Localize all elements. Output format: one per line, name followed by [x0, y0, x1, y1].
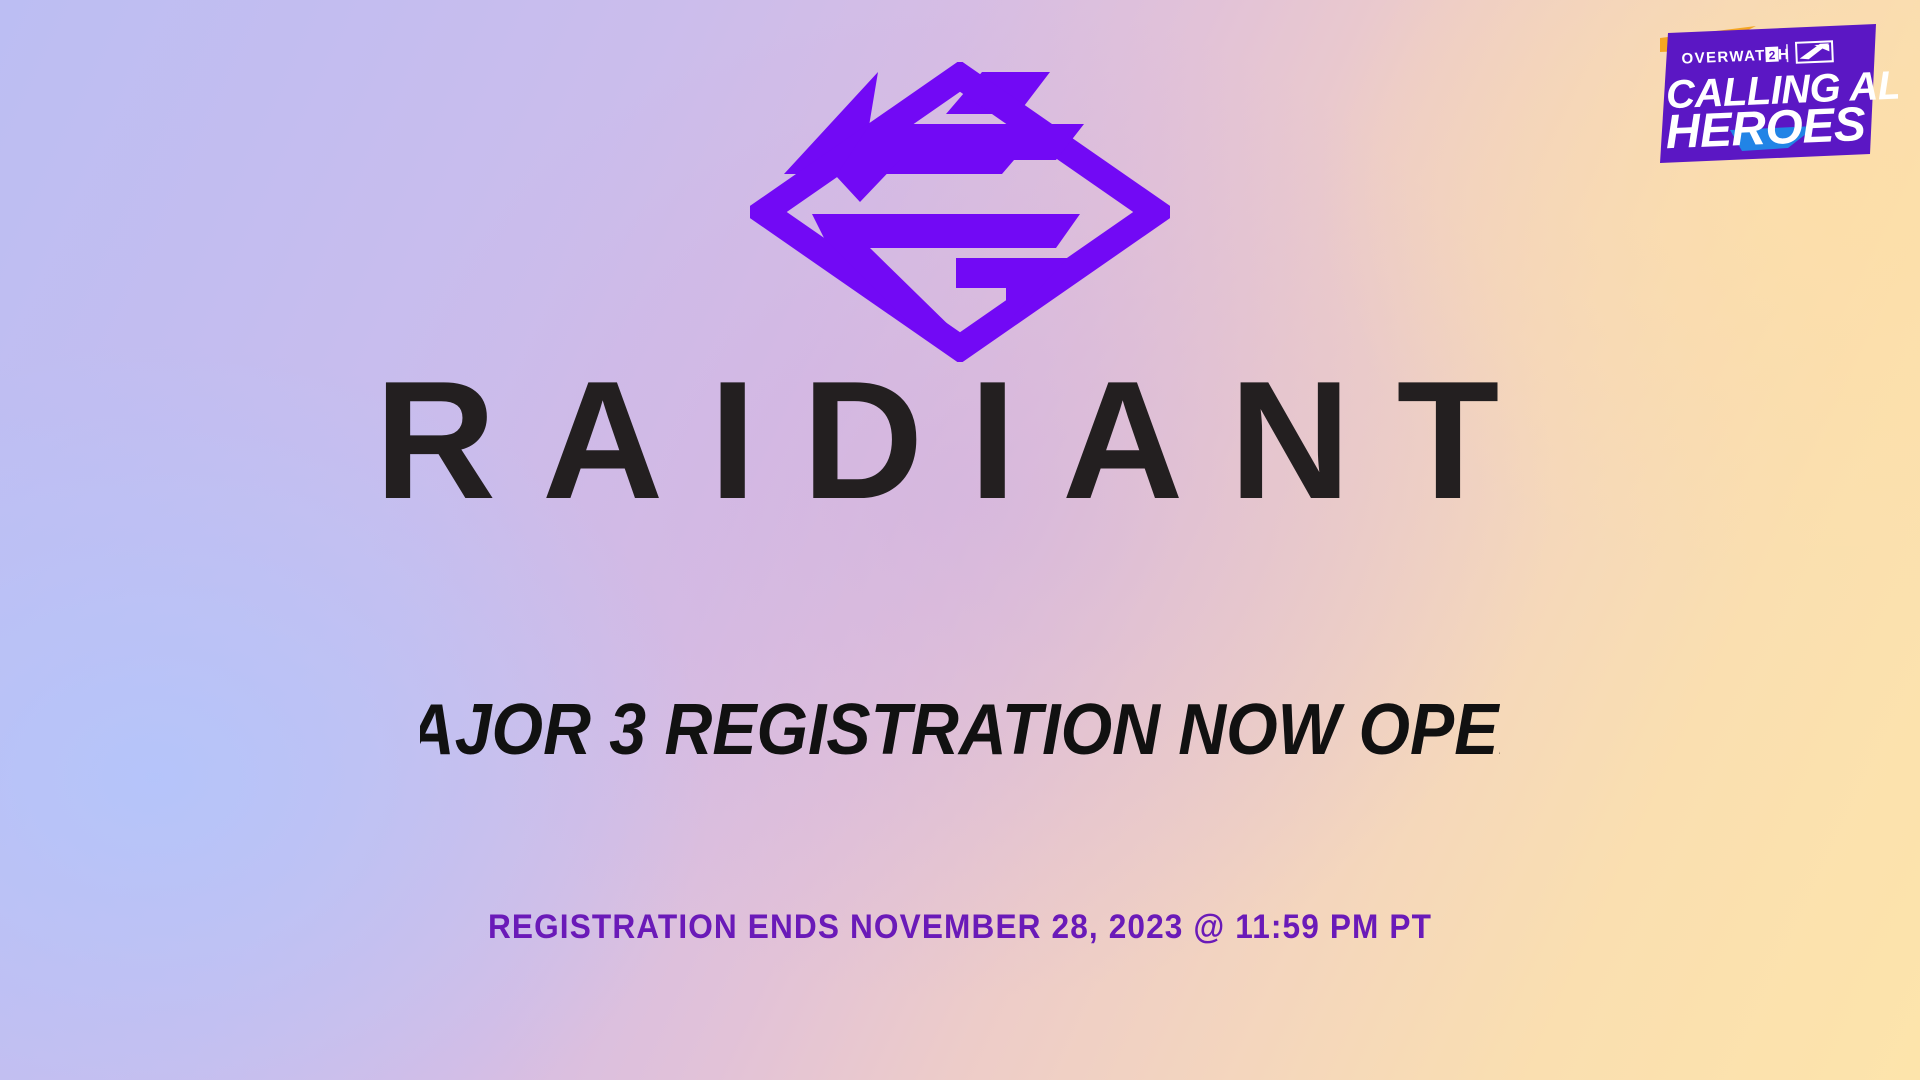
- poster-canvas: RAIDIANT MAJOR 3 REGISTRATION NOW OPEN! …: [0, 0, 1920, 1080]
- raidiant-wordmark: RAIDIANT: [0, 372, 1920, 532]
- calling-all-heroes-badge: OVERWATCH 2 CALLING ALL HEROES: [1638, 6, 1898, 176]
- headline: MAJOR 3 REGISTRATION NOW OPEN!: [0, 686, 1920, 772]
- poster-content: RAIDIANT MAJOR 3 REGISTRATION NOW OPEN! …: [0, 0, 1920, 1080]
- deadline-line: REGISTRATION ENDS NOVEMBER 28, 2023 @ 11…: [0, 898, 1920, 954]
- deadline-text: REGISTRATION ENDS NOVEMBER 28, 2023 @ 11…: [488, 907, 1432, 945]
- raidiant-wordmark-text: RAIDIANT: [375, 372, 1546, 532]
- badge-line2: HEROES: [1665, 98, 1867, 159]
- badge-ow2-two: 2: [1768, 48, 1776, 62]
- headline-text: MAJOR 3 REGISTRATION NOW OPEN!: [420, 688, 1500, 769]
- raidiant-diamond-icon: [750, 62, 1170, 362]
